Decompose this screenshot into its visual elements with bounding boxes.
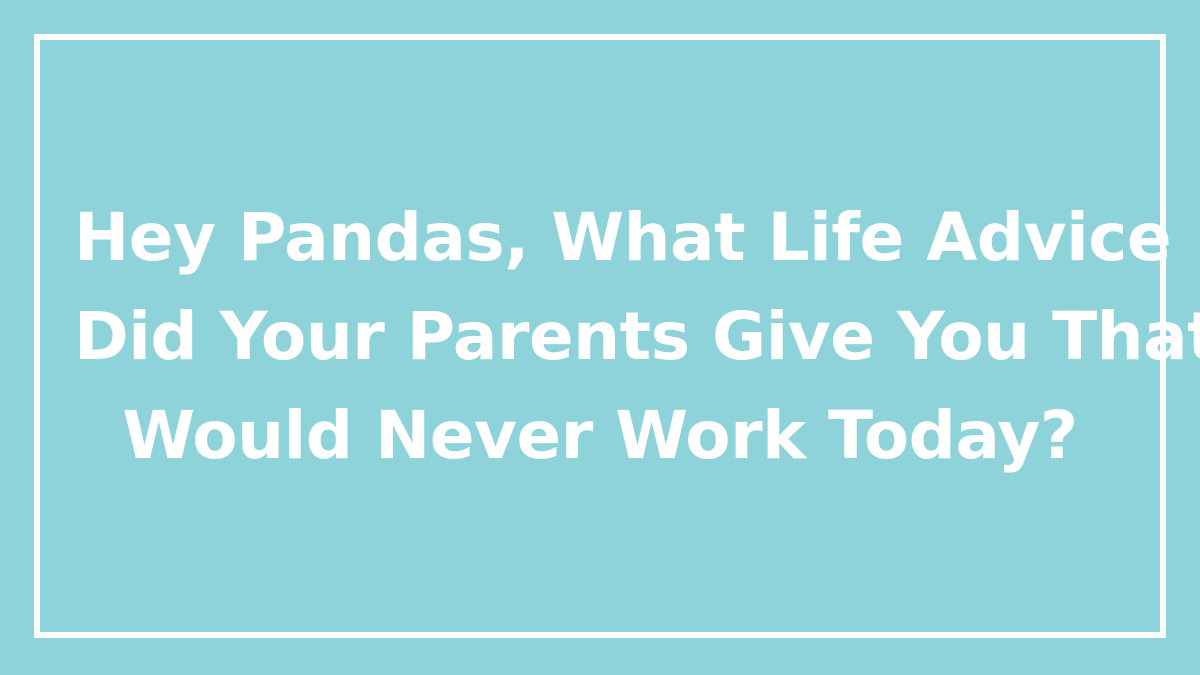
headline-line-3: Would Never Work Today? — [74, 386, 1126, 485]
headline-block: Hey Pandas, What Life Advice Did Your Pa… — [34, 34, 1166, 638]
headline-line-1: Hey Pandas, What Life Advice — [74, 188, 1126, 287]
social-post-card: Hey Pandas, What Life Advice Did Your Pa… — [0, 0, 1200, 675]
headline-line-2: Did Your Parents Give You That — [74, 287, 1126, 386]
